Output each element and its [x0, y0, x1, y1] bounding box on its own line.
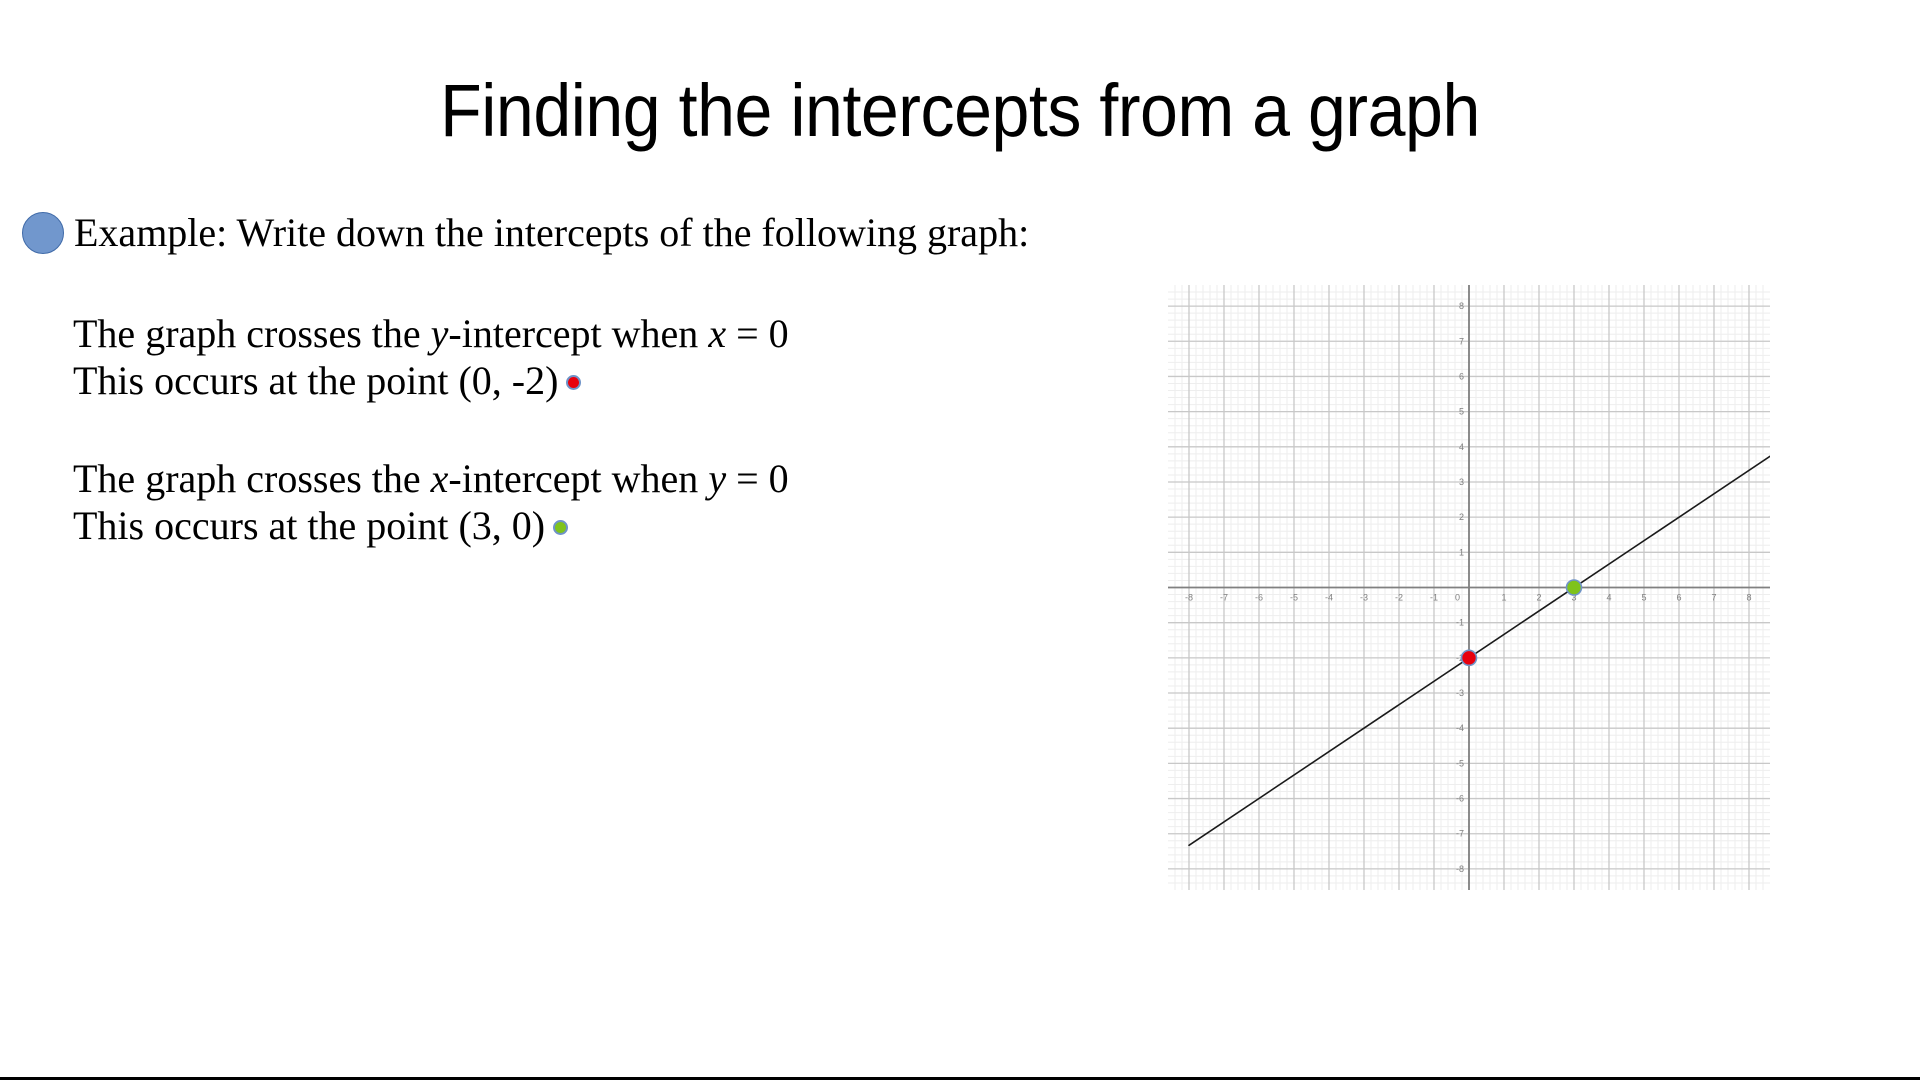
svg-text:-5: -5: [1290, 593, 1298, 603]
y-intercept-line1-var2: x: [708, 311, 726, 356]
svg-text:7: 7: [1711, 593, 1716, 603]
svg-text:-4: -4: [1456, 723, 1464, 733]
y-intercept-line-2: This occurs at the point (0, -2): [73, 357, 789, 404]
cartesian-graph[interactable]: -8-7-6-5-4-3-2-1012345678-8-7-6-5-4-3-2-…: [1168, 285, 1770, 890]
svg-text:-5: -5: [1456, 758, 1464, 768]
svg-text:-8: -8: [1456, 864, 1464, 874]
svg-text:-7: -7: [1456, 829, 1464, 839]
green-point-marker-icon: [553, 520, 568, 535]
svg-text:-3: -3: [1360, 593, 1368, 603]
svg-text:4: 4: [1606, 593, 1611, 603]
y-intercept-line-1: The graph crosses the y-intercept when x…: [73, 310, 789, 357]
svg-text:-6: -6: [1456, 794, 1464, 804]
x-intercept-line1-pre: The graph crosses the: [73, 456, 431, 501]
y-intercept-line2-text: This occurs at the point (0, -2): [73, 358, 558, 403]
x-intercept-line-2: This occurs at the point (3, 0): [73, 502, 789, 549]
svg-text:5: 5: [1459, 407, 1464, 417]
y-intercept-line1-post: = 0: [726, 311, 789, 356]
svg-text:1: 1: [1459, 547, 1464, 557]
svg-text:-1: -1: [1430, 593, 1438, 603]
svg-text:-7: -7: [1220, 593, 1228, 603]
y-intercept-line1-var: y: [431, 311, 449, 356]
svg-text:1: 1: [1501, 593, 1506, 603]
y-intercept-line1-mid: -intercept when: [448, 311, 708, 356]
svg-text:-3: -3: [1456, 688, 1464, 698]
x-intercept-line1-var: x: [431, 456, 449, 501]
svg-text:-1: -1: [1456, 618, 1464, 628]
svg-text:2: 2: [1536, 593, 1541, 603]
svg-text:-4: -4: [1325, 593, 1333, 603]
slide-canvas: Finding the intercepts from a graph Exam…: [0, 0, 1920, 1080]
graph-svg: -8-7-6-5-4-3-2-1012345678-8-7-6-5-4-3-2-…: [1168, 285, 1770, 890]
red-point-marker-icon: [566, 375, 581, 390]
x-intercept-line-1: The graph crosses the x-intercept when y…: [73, 455, 789, 502]
svg-text:-8: -8: [1185, 593, 1193, 603]
x-intercept-line1-mid: -intercept when: [448, 456, 708, 501]
svg-text:4: 4: [1459, 442, 1464, 452]
bullet-row: Example: Write down the intercepts of th…: [22, 212, 1029, 254]
svg-text:6: 6: [1676, 593, 1681, 603]
blue-circle-bullet-icon: [22, 212, 64, 254]
svg-text:2: 2: [1459, 512, 1464, 522]
svg-text:7: 7: [1459, 336, 1464, 346]
svg-text:-6: -6: [1255, 593, 1263, 603]
bullet-text: Example: Write down the intercepts of th…: [74, 213, 1029, 253]
x-intercept-explanation: The graph crosses the x-intercept when y…: [73, 455, 789, 549]
svg-text:3: 3: [1459, 477, 1464, 487]
svg-text:-2: -2: [1395, 593, 1403, 603]
svg-text:5: 5: [1641, 593, 1646, 603]
x-intercept-line1-var2: y: [708, 456, 726, 501]
x-intercept-line1-post: = 0: [726, 456, 789, 501]
x-intercept-line2-text: This occurs at the point (3, 0): [73, 503, 545, 548]
svg-text:6: 6: [1459, 371, 1464, 381]
svg-text:0: 0: [1455, 593, 1460, 603]
svg-text:8: 8: [1746, 593, 1751, 603]
page-title: Finding the intercepts from a graph: [77, 72, 1843, 150]
svg-text:8: 8: [1459, 301, 1464, 311]
y-intercept-line1-pre: The graph crosses the: [73, 311, 431, 356]
y-intercept-explanation: The graph crosses the y-intercept when x…: [73, 310, 789, 404]
